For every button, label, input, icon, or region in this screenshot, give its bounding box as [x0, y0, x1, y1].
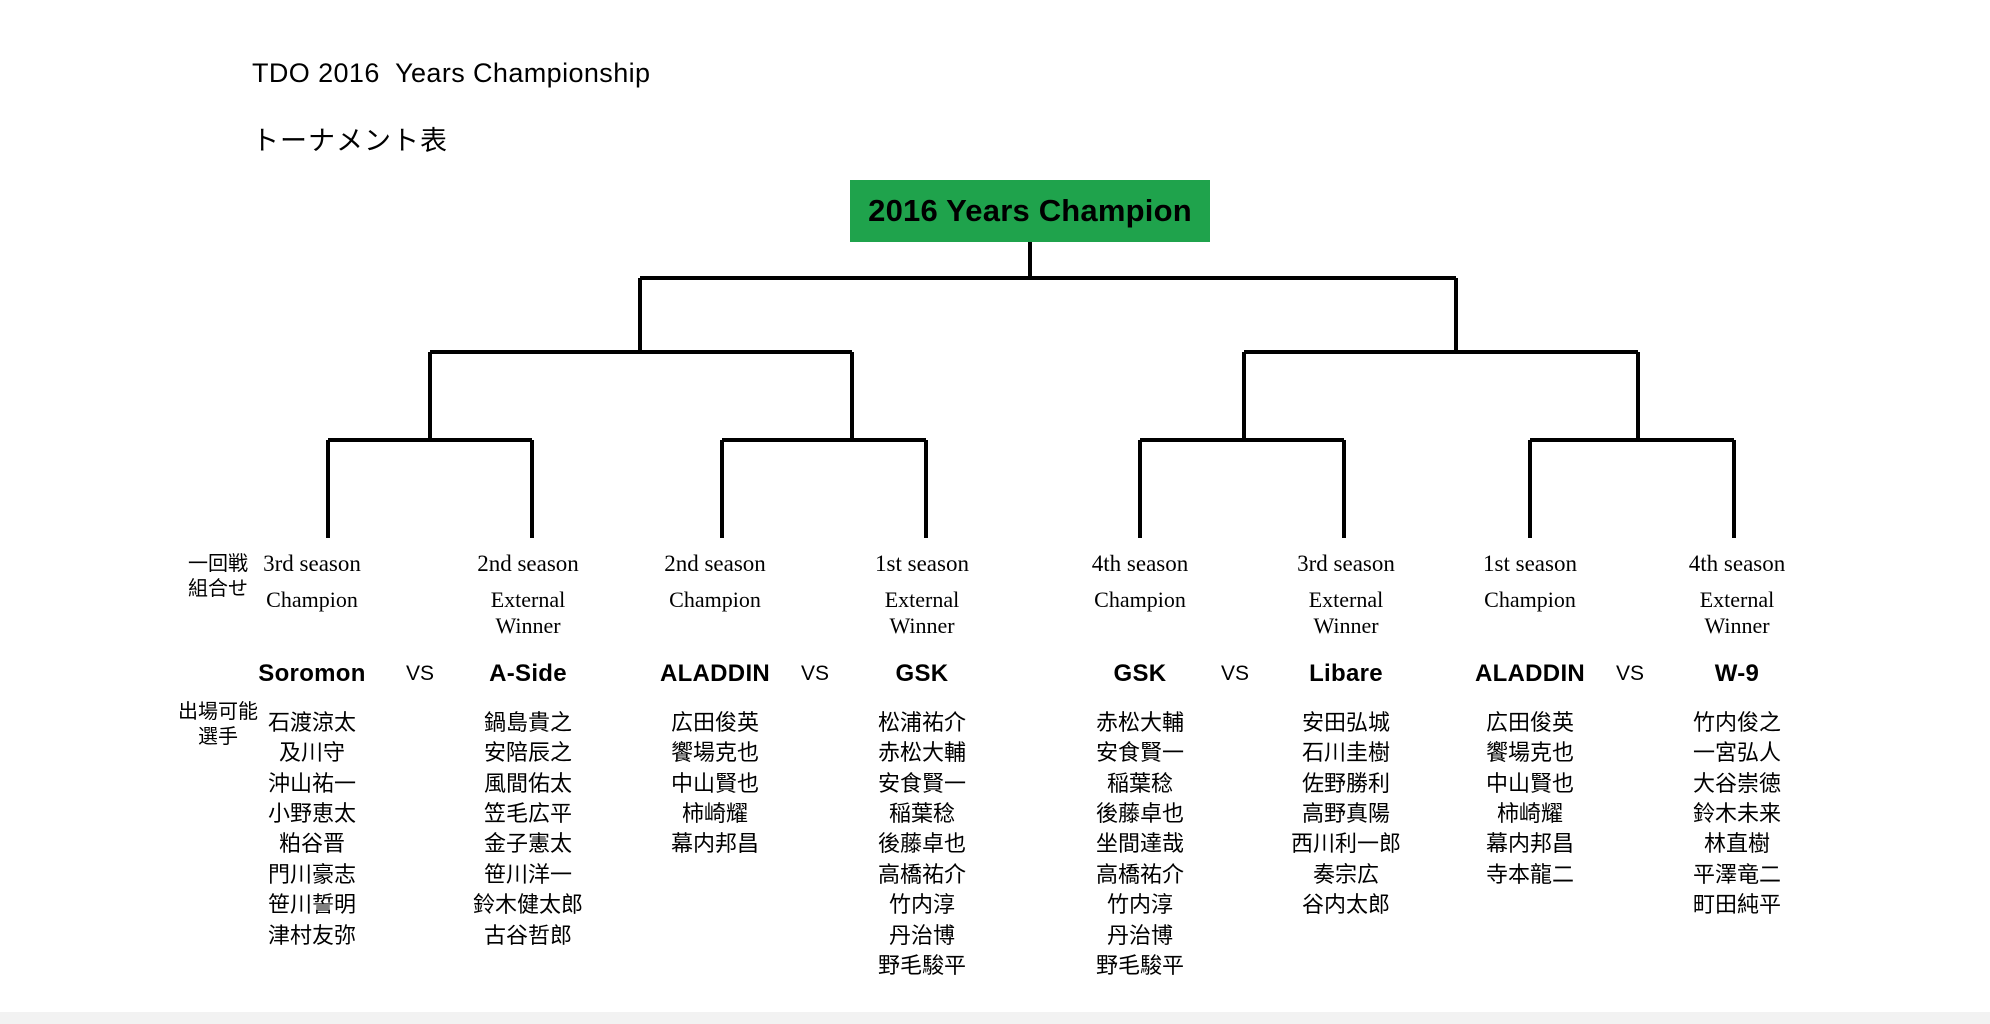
- team-column-0: 3rd season Champion: [222, 552, 402, 613]
- roster-player: 竹内淳: [832, 890, 1012, 920]
- team-name-wrap-4: GSK: [1050, 660, 1230, 688]
- roster-player: 丹治博: [832, 921, 1012, 951]
- team-column-4: 4th season Champion: [1050, 552, 1230, 613]
- roster-player: 赤松大輔: [1050, 708, 1230, 738]
- team-roster-4: 赤松大輔安食賢一稲葉稔後藤卓也坐間達哉高橋祐介竹内淳丹治博野毛駿平: [1050, 708, 1230, 981]
- team-name-0[interactable]: Soromon: [258, 660, 365, 687]
- vs-label-match-1: VS: [795, 662, 835, 686]
- roster-player: 柿崎耀: [625, 799, 805, 829]
- team-roster-5: 安田弘城石川圭樹佐野勝利高野真陽西川利一郎奏宗広谷内太郎: [1256, 708, 1436, 921]
- roster-player: 坐間達哉: [1050, 829, 1230, 859]
- roster-player: 高橋祐介: [832, 860, 1012, 890]
- roster-player: 一宮弘人: [1647, 738, 1827, 768]
- team-name-1[interactable]: A-Side: [489, 660, 567, 687]
- roster-player: 饗場克也: [625, 738, 805, 768]
- team-season-1: 2nd season: [438, 552, 618, 575]
- roster-player: 安食賢一: [1050, 738, 1230, 768]
- roster-player: 金子憲太: [438, 829, 618, 859]
- roster-player: 古谷哲郎: [438, 921, 618, 951]
- page-title: TDO 2016 Years Championship: [252, 58, 650, 89]
- roster-player: 笹川洋一: [438, 860, 618, 890]
- team-name-wrap-6: ALADDIN: [1440, 660, 1620, 688]
- roster-player: 安陪辰之: [438, 738, 618, 768]
- roster-player: 広田俊英: [625, 708, 805, 738]
- roster-player: 中山賢也: [625, 769, 805, 799]
- team-season-4: 4th season: [1050, 552, 1230, 575]
- roster-player: 丹治博: [1050, 921, 1230, 951]
- roster-player: 稲葉稔: [832, 799, 1012, 829]
- roster-player: 小野恵太: [222, 799, 402, 829]
- roster-player: 沖山祐一: [222, 769, 402, 799]
- roster-player: 谷内太郎: [1256, 890, 1436, 920]
- roster-player: 林直樹: [1647, 829, 1827, 859]
- roster-player: 松浦祐介: [832, 708, 1012, 738]
- team-roster-7: 竹内俊之一宮弘人大谷崇徳鈴木未来林直樹平澤竜二町田純平: [1647, 708, 1827, 921]
- team-name-7[interactable]: W-9: [1715, 660, 1759, 687]
- roster-player: 石川圭樹: [1256, 738, 1436, 768]
- page-bottom-edge: [0, 1012, 1990, 1024]
- roster-player: 広田俊英: [1440, 708, 1620, 738]
- roster-player: 高橋祐介: [1050, 860, 1230, 890]
- roster-player: 稲葉稔: [1050, 769, 1230, 799]
- roster-player: 野毛駿平: [832, 951, 1012, 981]
- roster-player: 石渡涼太: [222, 708, 402, 738]
- roster-player: 奏宗広: [1256, 860, 1436, 890]
- team-name-wrap-3: GSK: [832, 660, 1012, 688]
- vs-label-match-2: VS: [1215, 662, 1255, 686]
- team-season-0: 3rd season: [222, 552, 402, 575]
- roster-player: 西川利一郎: [1256, 829, 1436, 859]
- team-name-wrap-0: Soromon: [222, 660, 402, 688]
- roster-player: 町田純平: [1647, 890, 1827, 920]
- roster-player: 佐野勝利: [1256, 769, 1436, 799]
- team-name-wrap-7: W-9: [1647, 660, 1827, 688]
- team-qualifier-1: External Winner: [438, 587, 618, 638]
- team-column-1: 2nd season External Winner: [438, 552, 618, 638]
- roster-player: 高野真陽: [1256, 799, 1436, 829]
- roster-player: 安田弘城: [1256, 708, 1436, 738]
- team-column-7: 4th season External Winner: [1647, 552, 1827, 638]
- team-season-2: 2nd season: [625, 552, 805, 575]
- roster-player: 野毛駿平: [1050, 951, 1230, 981]
- team-qualifier-6: Champion: [1440, 587, 1620, 613]
- team-column-6: 1st season Champion: [1440, 552, 1620, 613]
- champion-box: 2016 Years Champion: [850, 180, 1210, 242]
- team-roster-0: 石渡涼太及川守沖山祐一小野恵太粕谷晋門川豪志笹川誓明津村友弥: [222, 708, 402, 951]
- team-column-3: 1st season External Winner: [832, 552, 1012, 638]
- roster-player: 笠毛広平: [438, 799, 618, 829]
- roster-player: 赤松大輔: [832, 738, 1012, 768]
- roster-player: 鍋島貴之: [438, 708, 618, 738]
- team-name-3[interactable]: GSK: [896, 660, 949, 687]
- team-season-6: 1st season: [1440, 552, 1620, 575]
- team-qualifier-7: External Winner: [1647, 587, 1827, 638]
- team-qualifier-0: Champion: [222, 587, 402, 613]
- vs-label-match-3: VS: [1610, 662, 1650, 686]
- team-roster-1: 鍋島貴之安陪辰之風間佑太笠毛広平金子憲太笹川洋一鈴木健太郎古谷哲郎: [438, 708, 618, 951]
- roster-player: 風間佑太: [438, 769, 618, 799]
- team-name-wrap-5: Libare: [1256, 660, 1436, 688]
- champion-label: 2016 Years Champion: [868, 193, 1192, 229]
- roster-player: 平澤竜二: [1647, 860, 1827, 890]
- roster-player: 鈴木健太郎: [438, 890, 618, 920]
- team-qualifier-4: Champion: [1050, 587, 1230, 613]
- team-roster-3: 松浦祐介赤松大輔安食賢一稲葉稔後藤卓也高橋祐介竹内淳丹治博野毛駿平: [832, 708, 1012, 981]
- team-qualifier-2: Champion: [625, 587, 805, 613]
- roster-player: 津村友弥: [222, 921, 402, 951]
- team-qualifier-3: External Winner: [832, 587, 1012, 638]
- roster-player: 竹内俊之: [1647, 708, 1827, 738]
- team-name-4[interactable]: GSK: [1114, 660, 1167, 687]
- roster-player: 幕内邦昌: [625, 829, 805, 859]
- roster-player: 幕内邦昌: [1440, 829, 1620, 859]
- team-column-5: 3rd season External Winner: [1256, 552, 1436, 638]
- roster-player: 大谷崇徳: [1647, 769, 1827, 799]
- roster-player: 後藤卓也: [1050, 799, 1230, 829]
- roster-player: 鈴木未来: [1647, 799, 1827, 829]
- roster-player: 竹内淳: [1050, 890, 1230, 920]
- team-roster-6: 広田俊英饗場克也中山賢也柿崎耀幕内邦昌寺本龍二: [1440, 708, 1620, 890]
- team-column-2: 2nd season Champion: [625, 552, 805, 613]
- roster-player: 饗場克也: [1440, 738, 1620, 768]
- vs-label-match-0: VS: [400, 662, 440, 686]
- roster-player: 寺本龍二: [1440, 860, 1620, 890]
- team-name-wrap-1: A-Side: [438, 660, 618, 688]
- team-season-5: 3rd season: [1256, 552, 1436, 575]
- roster-player: 粕谷晋: [222, 829, 402, 859]
- roster-player: 中山賢也: [1440, 769, 1620, 799]
- roster-player: 柿崎耀: [1440, 799, 1620, 829]
- team-name-2[interactable]: ALADDIN: [660, 660, 770, 687]
- team-name-5[interactable]: Libare: [1309, 660, 1383, 687]
- team-roster-2: 広田俊英饗場克也中山賢也柿崎耀幕内邦昌: [625, 708, 805, 860]
- team-qualifier-5: External Winner: [1256, 587, 1436, 638]
- roster-player: 後藤卓也: [832, 829, 1012, 859]
- roster-player: 安食賢一: [832, 769, 1012, 799]
- team-season-3: 1st season: [832, 552, 1012, 575]
- roster-player: 門川豪志: [222, 860, 402, 890]
- team-name-6[interactable]: ALADDIN: [1475, 660, 1585, 687]
- page-subtitle: トーナメント表: [252, 119, 650, 158]
- team-season-7: 4th season: [1647, 552, 1827, 575]
- team-name-wrap-2: ALADDIN: [625, 660, 805, 688]
- roster-player: 及川守: [222, 738, 402, 768]
- title-block: TDO 2016 Years Championship トーナメント表: [252, 58, 650, 158]
- roster-player: 笹川誓明: [222, 890, 402, 920]
